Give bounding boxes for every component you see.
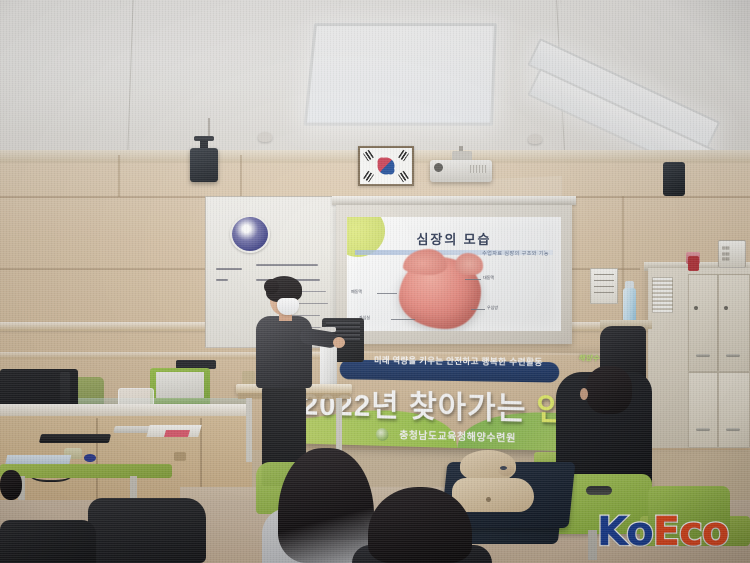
trigram (363, 171, 374, 182)
slide-subtitle: 수업자료 심장의 구조와 기능 (482, 250, 549, 257)
trigram (398, 150, 409, 161)
student-far-left-head (0, 470, 22, 500)
backpack-left (0, 520, 96, 563)
student-front-left-hair (278, 448, 374, 563)
cabinet-handle[interactable] (696, 354, 710, 357)
cpr-manikin-compression-marker (486, 497, 491, 502)
whiteboard-note-line (216, 279, 228, 281)
koeco-watermark: KoEco (597, 512, 728, 552)
red-document (164, 430, 190, 437)
projection-screen-housing (332, 196, 576, 205)
counter-cabinet-handle[interactable] (174, 452, 186, 461)
student-right-ear (580, 388, 588, 400)
instructor-torso (256, 316, 312, 388)
cabinet-door[interactable] (718, 372, 750, 448)
ceiling-light-panel-right (540, 38, 690, 133)
label-leader-line (465, 279, 481, 280)
trigram (363, 150, 374, 161)
cabinet-handle[interactable] (696, 428, 710, 431)
projector-lens (434, 163, 443, 172)
watermark-ko: Ko (597, 509, 653, 555)
shelf-interior (156, 372, 204, 398)
mouse[interactable] (84, 454, 96, 462)
cabinet-handle[interactable] (726, 354, 740, 357)
slide-label-pulmonary: 폐동맥 (351, 289, 362, 295)
chair-handle-slot (586, 486, 612, 495)
notice-text-line (594, 292, 614, 293)
chair-leg (588, 530, 597, 560)
ceiling-light-panel-left (304, 23, 497, 125)
student-right-head (586, 366, 632, 414)
cabinet-top-box: ▤▤▤▤▤▤ (718, 240, 746, 268)
box-label: ▤▤▤▤▤▤ (722, 245, 730, 262)
presentation-slide: 심장의 모습 수업자료 심장의 구조와 기능 대동맥 폐동맥 우심방 좌심실 (347, 217, 561, 331)
student-desk-left (0, 464, 172, 478)
wall-speaker-right (663, 162, 685, 196)
taeguk-blue (386, 166, 395, 175)
slide-title: 심장의 모습 (347, 229, 561, 248)
cpr-manikin-torso (452, 478, 534, 512)
whiteboard-note-line (216, 268, 242, 270)
notice-text-line (594, 280, 614, 281)
cup-on-table (242, 371, 255, 384)
cabinet-top-item-red (688, 256, 699, 271)
wall-speaker-left (190, 148, 218, 182)
notice-text-line (594, 286, 614, 287)
ceiling-spotlight (528, 134, 542, 144)
cpr-manikin-eye (500, 466, 507, 470)
taeguk-circle (378, 158, 395, 175)
keyboard[interactable] (39, 434, 111, 443)
whiteboard-note-line (256, 264, 318, 266)
watermark-eco: Eco (653, 509, 729, 555)
slide-label-aorta: 대동맥 (483, 275, 494, 281)
cabinet-door[interactable] (688, 274, 718, 372)
cabinet-lock[interactable] (694, 306, 698, 310)
cabinet-door[interactable] (688, 372, 718, 448)
taeguk-red (378, 158, 387, 167)
school-emblem-badge (230, 215, 270, 253)
classroom-photo: 심장의 모습 수업자료 심장의 구조와 기능 대동맥 폐동맥 우심방 좌심실 (0, 0, 750, 563)
cabinet-handle[interactable] (726, 428, 740, 431)
wall-notice-paper (590, 268, 618, 304)
label-leader-line (391, 319, 415, 320)
label-leader-line (377, 293, 397, 294)
hand-sanitizer-bottle (320, 341, 337, 389)
instructor-hand (333, 337, 345, 348)
projection-screen: 심장의 모습 수업자료 심장의 구조와 기능 대동맥 폐동맥 우심방 좌심실 (336, 205, 572, 344)
panel-seam (240, 155, 242, 197)
projector-vent (470, 165, 486, 173)
table-leg (246, 398, 252, 462)
label-leader-line (471, 309, 485, 310)
cabinet-lock[interactable] (724, 306, 728, 310)
trigram (398, 171, 409, 182)
cabinet-vent-grille (652, 277, 673, 313)
cabinet-door[interactable] (718, 274, 750, 372)
instructor-hair-bun (264, 279, 279, 294)
panel-seam (118, 155, 120, 197)
ceiling-spotlight (258, 132, 272, 142)
hand-sanitizer-bottle-blue (623, 288, 636, 322)
backpack-front (88, 498, 206, 563)
korean-flag-taegukgi (358, 146, 414, 186)
notice-text-line (594, 274, 614, 275)
slide-label-right-atrium: 우심방 (487, 305, 498, 311)
